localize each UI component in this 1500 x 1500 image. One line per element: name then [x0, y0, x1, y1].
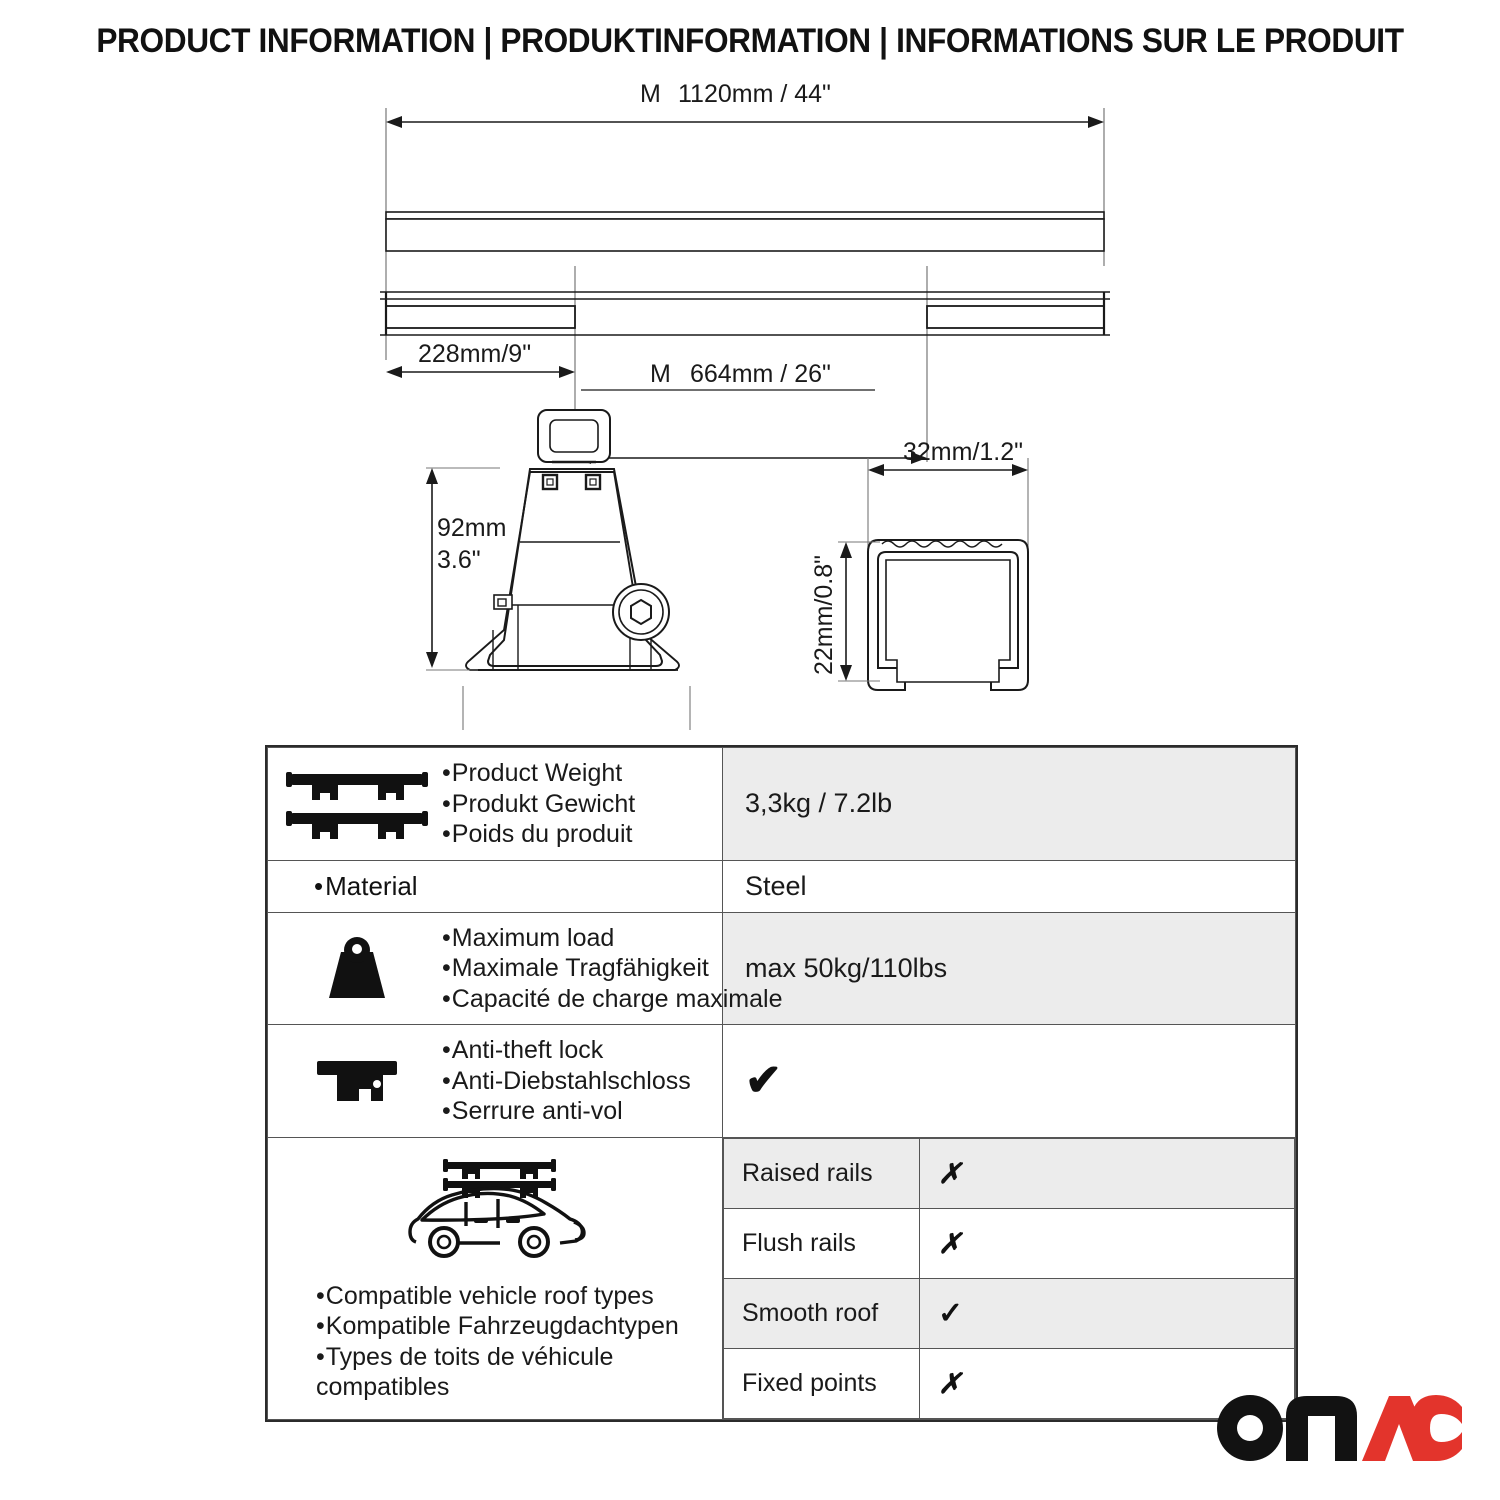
label-fr: Serrure anti-vol — [442, 1096, 691, 1127]
compat-labels: Compatible vehicle roof types Kompatible… — [278, 1281, 712, 1403]
crossbars-icon — [282, 766, 432, 842]
lock-icon — [282, 1043, 432, 1119]
sub-label-fixed-points: Fixed points — [724, 1348, 920, 1418]
label-de: Anti-Diebstahlschloss — [442, 1066, 691, 1097]
label-en: Product Weight — [442, 758, 635, 789]
sub-value-smooth-roof: ✓ — [920, 1278, 1295, 1348]
label-fr: Types de toits de véhicule — [316, 1342, 712, 1373]
table-row: Product Weight Produkt Gewicht Poids du … — [268, 748, 1296, 861]
product-weight-value: 3,3kg / 7.2lb — [723, 748, 1296, 861]
label-fr: Capacité de charge maximale — [442, 984, 783, 1015]
material-value: Steel — [723, 860, 1296, 912]
material-label-cell: Material — [268, 860, 723, 912]
foot-offset-label: 228mm/9" — [418, 340, 531, 368]
bar-length-prefix: M — [640, 80, 661, 108]
drawing-svg: M 1120mm / 44" 228mm/9" M 664mm / 26" 92… — [0, 70, 1500, 730]
cross-icon: ✗ — [938, 1228, 961, 1259]
foot-width-label: 104mm / 4" — [498, 728, 625, 730]
sub-value-flush-rails: ✗ — [920, 1208, 1295, 1278]
max-load-label-cell: Maximum load Maximale Tragfähigkeit Capa… — [268, 912, 723, 1025]
table-row: Material Steel — [268, 860, 1296, 912]
page-title: PRODUCT INFORMATION | PRODUKTINFORMATION… — [53, 22, 1448, 61]
label-en: Compatible vehicle roof types — [316, 1281, 712, 1312]
label-en: Anti-theft lock — [442, 1035, 691, 1066]
sub-row: Fixed points ✗ — [724, 1348, 1295, 1418]
sub-label-flush-rails: Flush rails — [724, 1208, 920, 1278]
table-row: Anti-theft lock Anti-Diebstahlschloss Se… — [268, 1025, 1296, 1138]
omac-logo — [1214, 1390, 1464, 1466]
check-mark-icon: ✓ — [938, 1297, 963, 1330]
product-weight-label-cell: Product Weight Produkt Gewicht Poids du … — [268, 748, 723, 861]
span-label: 664mm / 26" — [690, 360, 831, 388]
anti-theft-label-cell: Anti-theft lock Anti-Diebstahlschloss Se… — [268, 1025, 723, 1138]
compat-label-cell: Compatible vehicle roof types Kompatible… — [268, 1137, 723, 1419]
max-load-labels: Maximum load Maximale Tragfähigkeit Capa… — [442, 923, 783, 1015]
cross-icon: ✗ — [938, 1158, 961, 1189]
table-row: Maximum load Maximale Tragfähigkeit Capa… — [268, 912, 1296, 1025]
label-de: Produkt Gewicht — [442, 789, 635, 820]
car-with-rack-icon — [278, 1150, 712, 1275]
max-load-value: max 50kg/110lbs — [723, 912, 1296, 1025]
product-weight-labels: Product Weight Produkt Gewicht Poids du … — [442, 758, 635, 850]
table-row: Compatible vehicle roof types Kompatible… — [268, 1137, 1296, 1419]
sub-value-raised-rails: ✗ — [920, 1138, 1295, 1208]
sub-label-raised-rails: Raised rails — [724, 1138, 920, 1208]
check-mark-icon: ✔ — [745, 1056, 782, 1105]
sub-row: Flush rails ✗ — [724, 1208, 1295, 1278]
weight-icon — [282, 930, 432, 1006]
omac-logo-svg — [1214, 1390, 1464, 1466]
sub-row: Raised rails ✗ — [724, 1138, 1295, 1208]
label-de: Kompatible Fahrzeugdachtypen — [316, 1311, 712, 1342]
label-material: Material — [325, 871, 417, 901]
roof-type-subtable-cell: Raised rails ✗ Flush rails ✗ — [723, 1137, 1296, 1419]
technical-drawing: M 1120mm / 44" 228mm/9" M 664mm / 26" 92… — [0, 70, 1500, 730]
sub-row: Smooth roof ✓ — [724, 1278, 1295, 1348]
foot-height-inch-label: 3.6" — [437, 546, 481, 574]
label-en: Maximum load — [442, 923, 783, 954]
sub-label-smooth-roof: Smooth roof — [724, 1278, 920, 1348]
anti-theft-value: ✔ — [723, 1025, 1296, 1138]
cross-icon: ✗ — [938, 1368, 961, 1399]
anti-theft-labels: Anti-theft lock Anti-Diebstahlschloss Se… — [442, 1035, 691, 1127]
span-prefix: M — [650, 360, 671, 388]
label-fr-cont: compatibles — [316, 1372, 712, 1403]
bar-length-label: 1120mm / 44" — [678, 80, 831, 108]
label-de: Maximale Tragfähigkeit — [442, 953, 783, 984]
roof-type-subtable: Raised rails ✗ Flush rails ✗ — [723, 1138, 1295, 1419]
specification-table: Product Weight Produkt Gewicht Poids du … — [265, 745, 1298, 1422]
profile-width-label: 32mm/1.2" — [903, 438, 1023, 466]
product-information-page: PRODUCT INFORMATION | PRODUKTINFORMATION… — [0, 0, 1500, 1500]
label-fr: Poids du produit — [442, 819, 635, 850]
foot-height-label: 92mm — [437, 514, 506, 542]
profile-height-label: 22mm/0.8" — [810, 555, 838, 675]
